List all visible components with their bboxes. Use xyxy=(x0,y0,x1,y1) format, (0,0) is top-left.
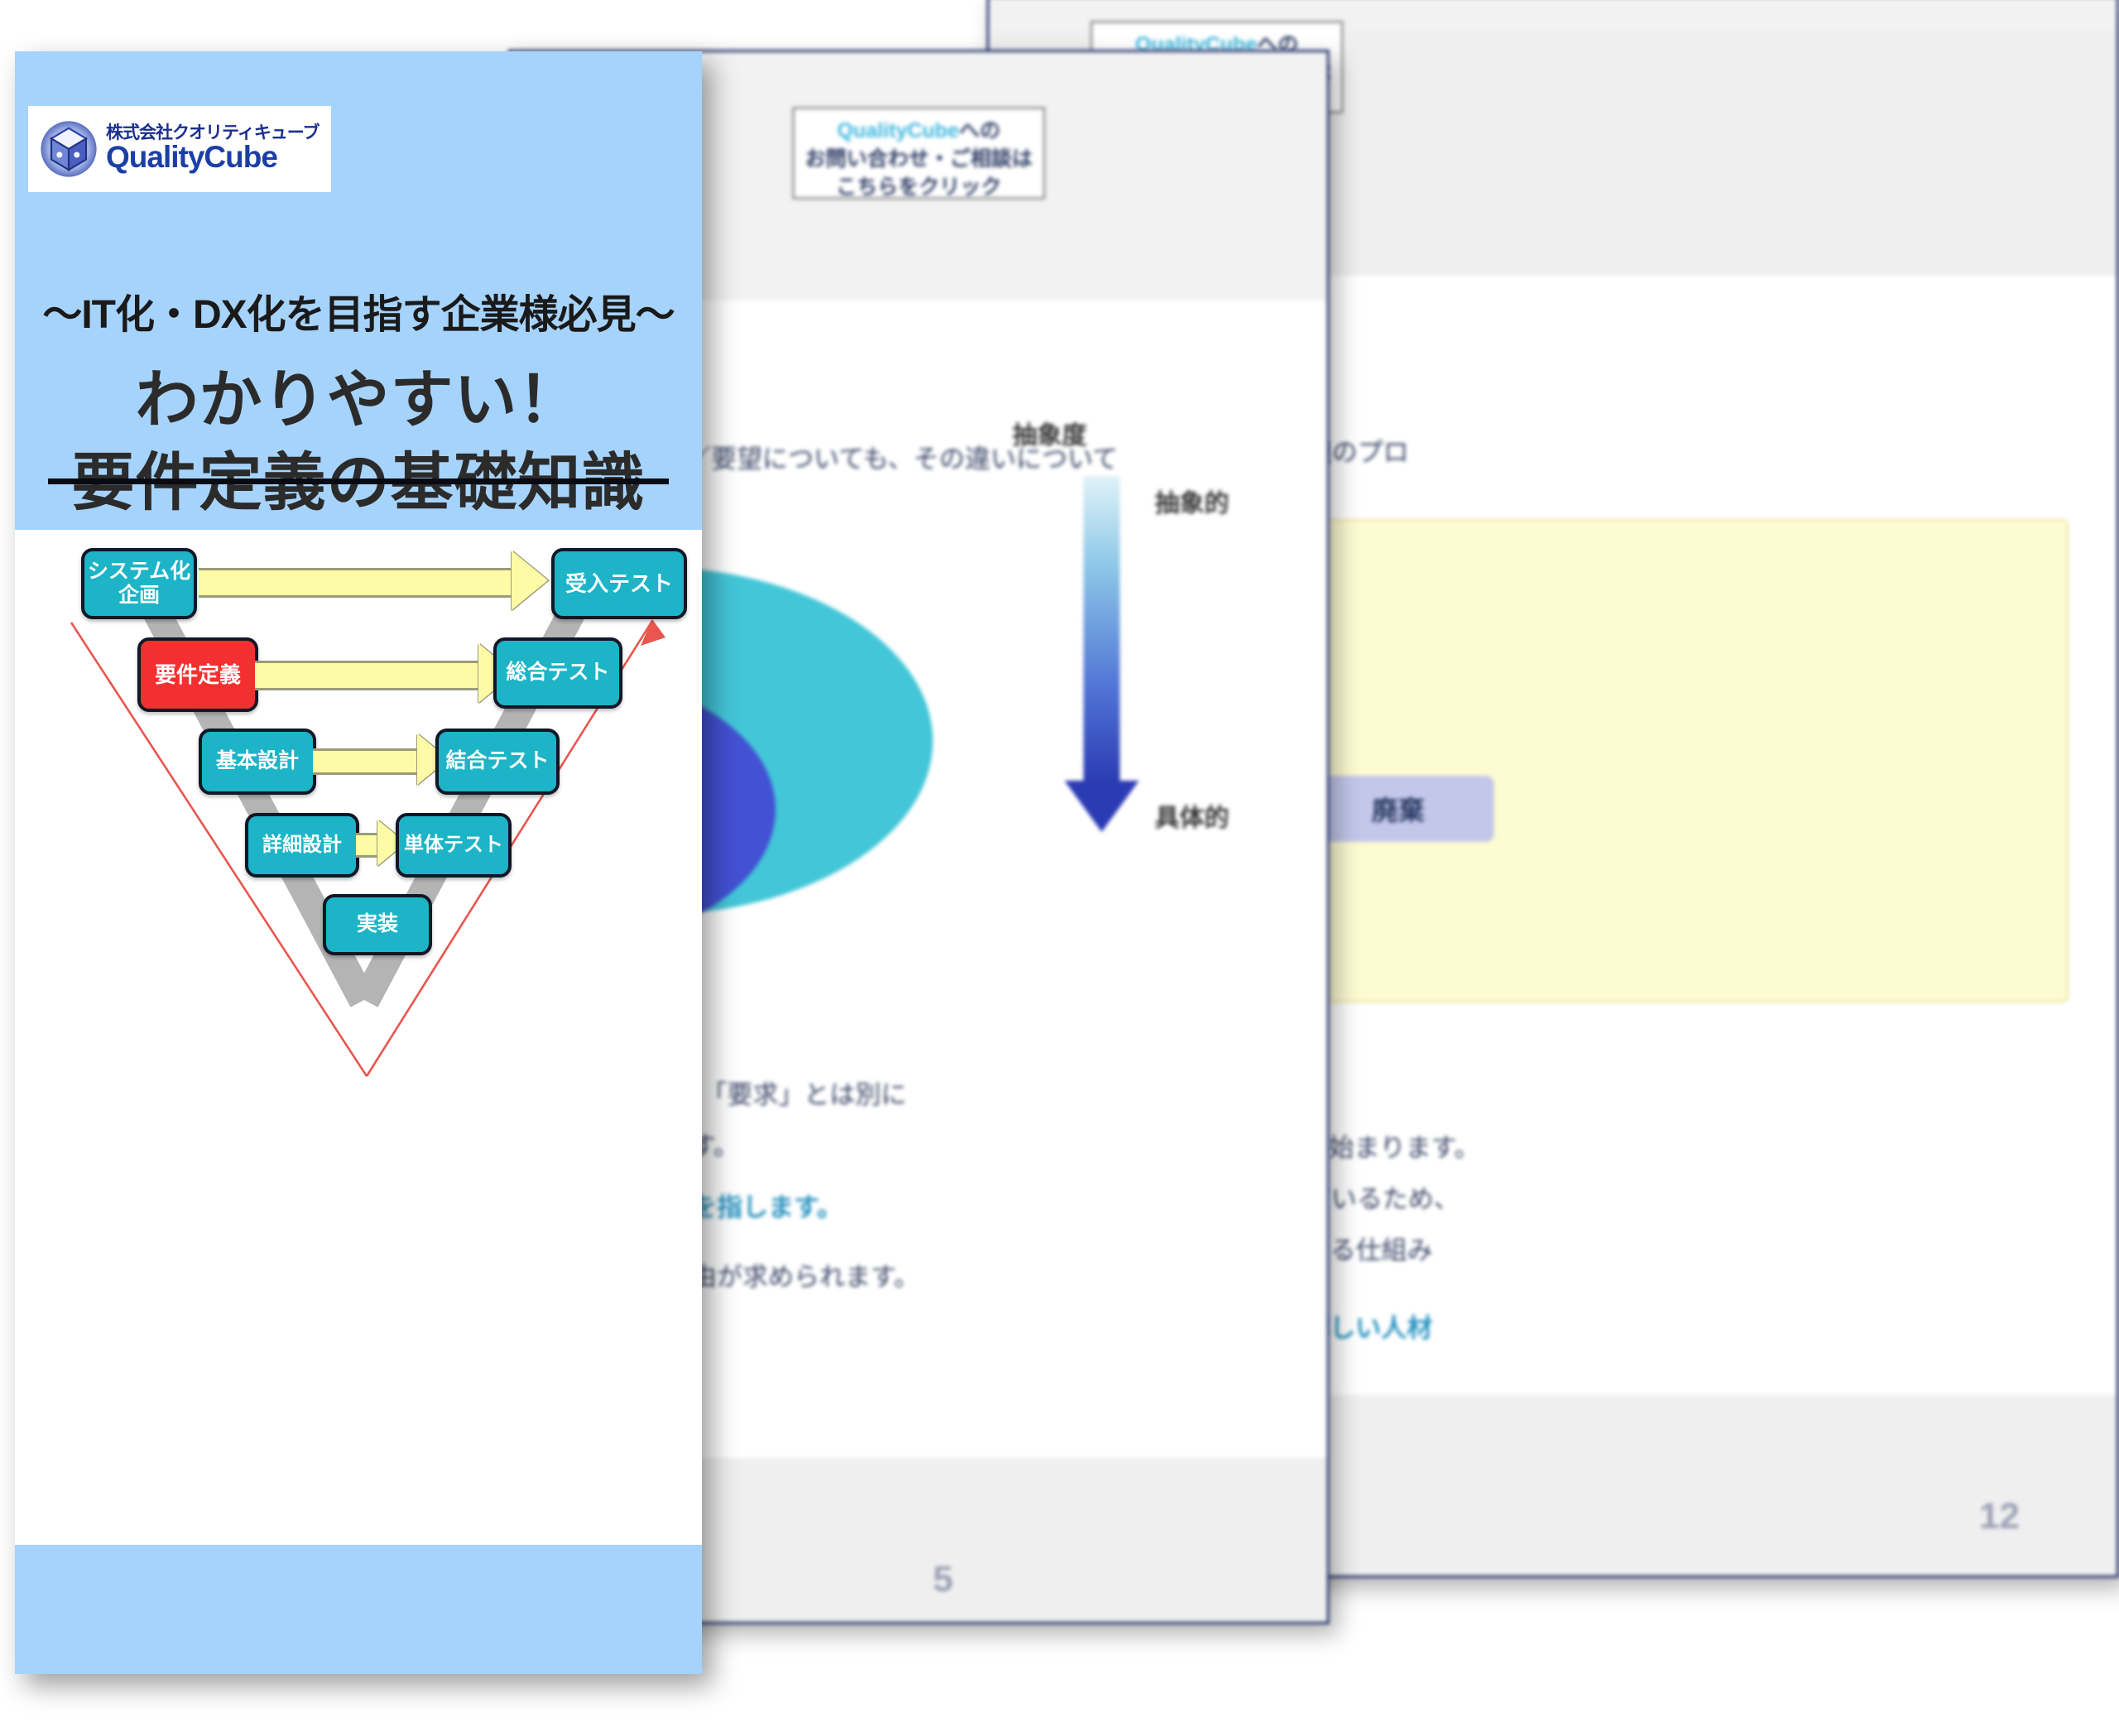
cover-title-line1: わかりやすい！ xyxy=(15,359,702,442)
brand-logo-text: 株式会社クオリティキューブ QualityCube xyxy=(106,124,319,174)
axis-label-concrete: 具体的 xyxy=(1155,797,1229,834)
v-node-unit-test: 単体テスト xyxy=(396,813,512,878)
v-node-integration-test: 結合テスト xyxy=(435,729,560,795)
cta-line3: こちらをクリック xyxy=(801,174,1036,202)
cta-line2: お問い合わせ・ご相談は xyxy=(801,146,1036,174)
v-arrow-2-shaft xyxy=(255,661,480,690)
cta-contact-box-page-5[interactable]: QualityCubeへの お問い合わせ・ご相談は こちらをクリック xyxy=(792,107,1045,200)
v-node-requirements-definition: 要件定義 xyxy=(137,637,258,712)
v-node-implementation: 実装 xyxy=(323,894,432,955)
brand-name: QualityCube xyxy=(106,142,319,174)
lifecycle-node-disposal: 廃棄 xyxy=(1302,776,1494,842)
brand-kana: 株式会社クオリティキューブ xyxy=(106,124,319,142)
v-node-basic-design: 基本設計 xyxy=(199,729,316,795)
cta-line1: QualityCubeへの xyxy=(801,118,1036,146)
cube-logo-icon xyxy=(40,120,98,178)
brand-logo-card[interactable]: 株式会社クオリティキューブ QualityCube xyxy=(28,106,331,192)
page-12-number: 12 xyxy=(1979,1496,2020,1537)
v-node-system-test: 総合テスト xyxy=(493,637,622,709)
axis-title-abstraction: 抽象度 xyxy=(1012,415,1087,451)
v-node-detailed-design: 詳細設計 xyxy=(245,813,359,878)
v-model-diagram: システム化企画 受入テスト 要件定義 総合テスト 基本設計 結合テスト 詳細設計… xyxy=(15,530,702,1545)
v-arrow-1-head xyxy=(512,551,548,610)
cover-divider xyxy=(48,478,669,484)
v-arrow-3-shaft xyxy=(313,748,419,775)
cover-tagline: 〜IT化・DX化を目指す企業様必見〜 xyxy=(15,281,702,339)
page-5-number: 5 xyxy=(933,1559,953,1600)
v-arrow-4-shaft xyxy=(356,833,379,858)
v-node-acceptance-test: 受入テスト xyxy=(551,548,687,619)
abstraction-arrow-head xyxy=(1064,781,1139,832)
axis-label-abstract: 抽象的 xyxy=(1155,483,1229,519)
v-arrow-1-shaft xyxy=(199,568,513,598)
cover-page[interactable]: 株式会社クオリティキューブ QualityCube 〜IT化・DX化を目指す企業… xyxy=(15,51,702,1674)
v-node-system-planning: システム化企画 xyxy=(81,548,197,619)
cover-footer-band xyxy=(15,1545,702,1674)
abstraction-arrow-shaft xyxy=(1084,476,1120,782)
screenshot-stage: QualityCubeへの お問い合わせ・ご相談は こちらをクリック る要件定義… xyxy=(0,0,2119,1736)
cover-title: わかりやすい！ 要件定義の基礎知識 xyxy=(15,359,702,526)
